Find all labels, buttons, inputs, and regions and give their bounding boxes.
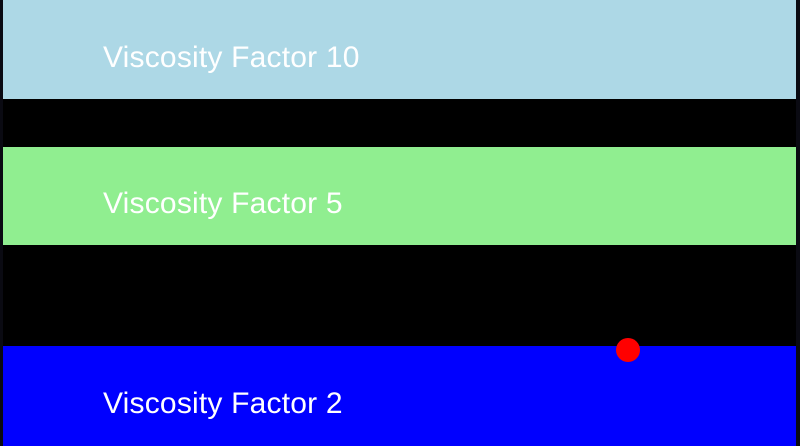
right-edge-border xyxy=(796,0,800,446)
red-dot-marker[interactable] xyxy=(616,338,640,362)
left-edge-border xyxy=(0,0,3,446)
band-viscosity-2[interactable]: Viscosity Factor 2 xyxy=(0,346,800,446)
band-label-viscosity-2: Viscosity Factor 2 xyxy=(103,389,343,419)
band-viscosity-5[interactable]: Viscosity Factor 5 xyxy=(0,147,800,245)
band-label-viscosity-5: Viscosity Factor 5 xyxy=(103,189,343,219)
band-viscosity-10[interactable]: Viscosity Factor 10 xyxy=(0,0,800,99)
band-label-viscosity-10: Viscosity Factor 10 xyxy=(103,43,360,73)
viscosity-layer-canvas: Viscosity Factor 10 Viscosity Factor 5 V… xyxy=(0,0,800,446)
